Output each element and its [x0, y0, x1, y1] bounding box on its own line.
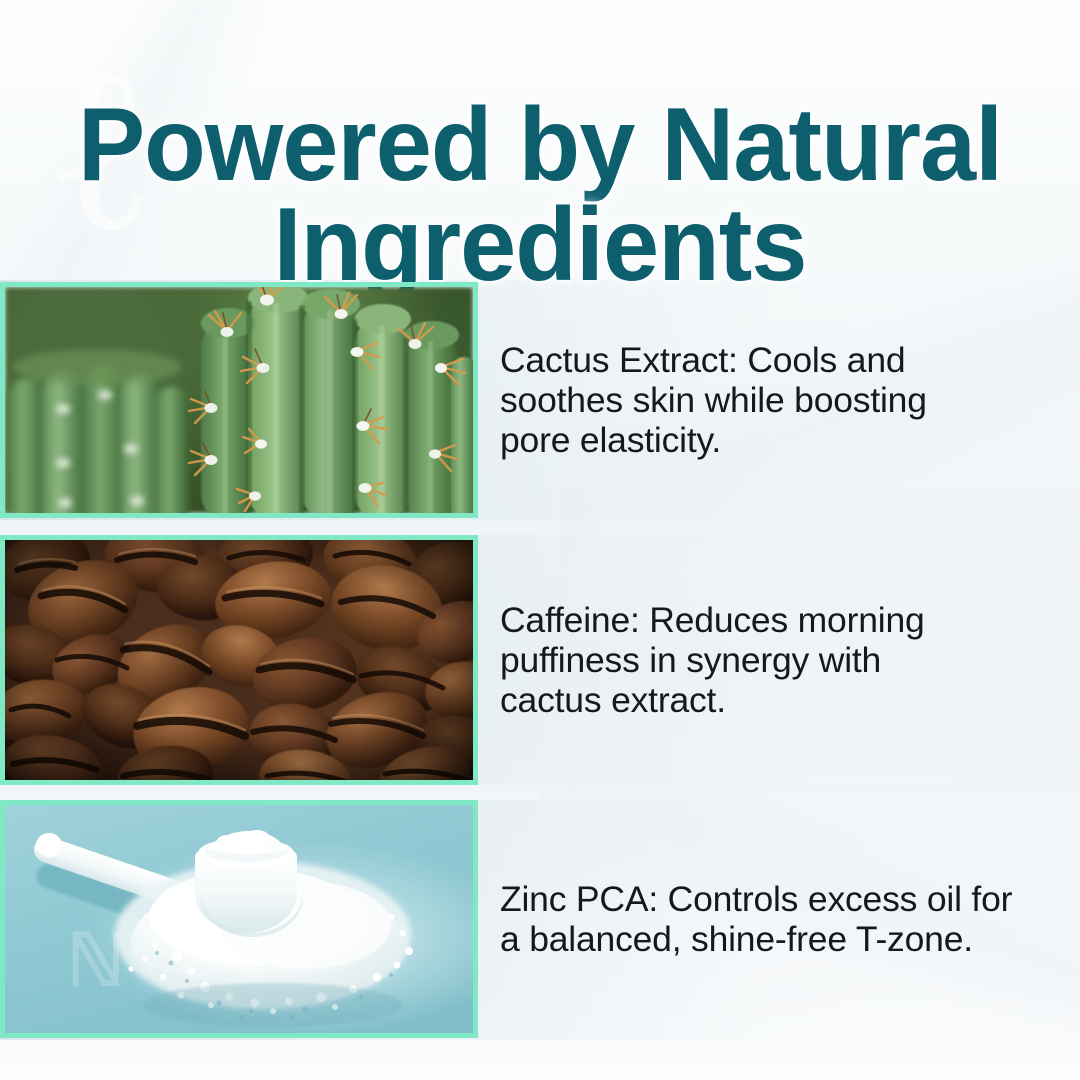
ingredient-row-caffeine: Caffeine: Reduces morning puffiness in s…	[0, 535, 1080, 785]
zinc-scoop-illustration: ℕ	[5, 805, 473, 1033]
ingredient-description: Caffeine: Reduces morning puffiness in s…	[500, 600, 980, 720]
coffee-photo-canvas	[5, 540, 473, 780]
caffeine-text-column: Caffeine: Reduces morning puffiness in s…	[478, 600, 1080, 720]
zinc-photo-canvas: ℕ	[5, 805, 473, 1033]
zinc-powder-photo: ℕ	[0, 800, 478, 1038]
cactus-extract-text-column: Cactus Extract: Cools and soothes skin w…	[478, 340, 1080, 460]
cactus-photo	[0, 282, 478, 518]
ingredient-row-cactus-extract: Cactus Extract: Cools and soothes skin w…	[0, 282, 1080, 518]
zinc-pca-text-column: Zinc PCA: Controls excess oil for a bala…	[478, 879, 1080, 959]
ingredient-row-zinc-pca: ℕ Zinc PCA: Controls excess oil for a ba…	[0, 800, 1080, 1038]
coffee-beans-illustration	[5, 540, 473, 780]
page-title: Powered by Natural Ingredients	[16, 96, 1064, 296]
ingredient-description: Cactus Extract: Cools and soothes skin w…	[500, 340, 990, 460]
ingredients-poster: ℓ ℙ Powered by Natural Ingredients	[0, 0, 1080, 1080]
svg-text:ℕ: ℕ	[67, 921, 125, 1001]
ingredient-description: Zinc PCA: Controls excess oil for a bala…	[500, 879, 1030, 959]
coffee-beans-photo	[0, 535, 478, 785]
cactus-illustration	[5, 287, 473, 513]
cactus-photo-canvas	[5, 287, 473, 513]
